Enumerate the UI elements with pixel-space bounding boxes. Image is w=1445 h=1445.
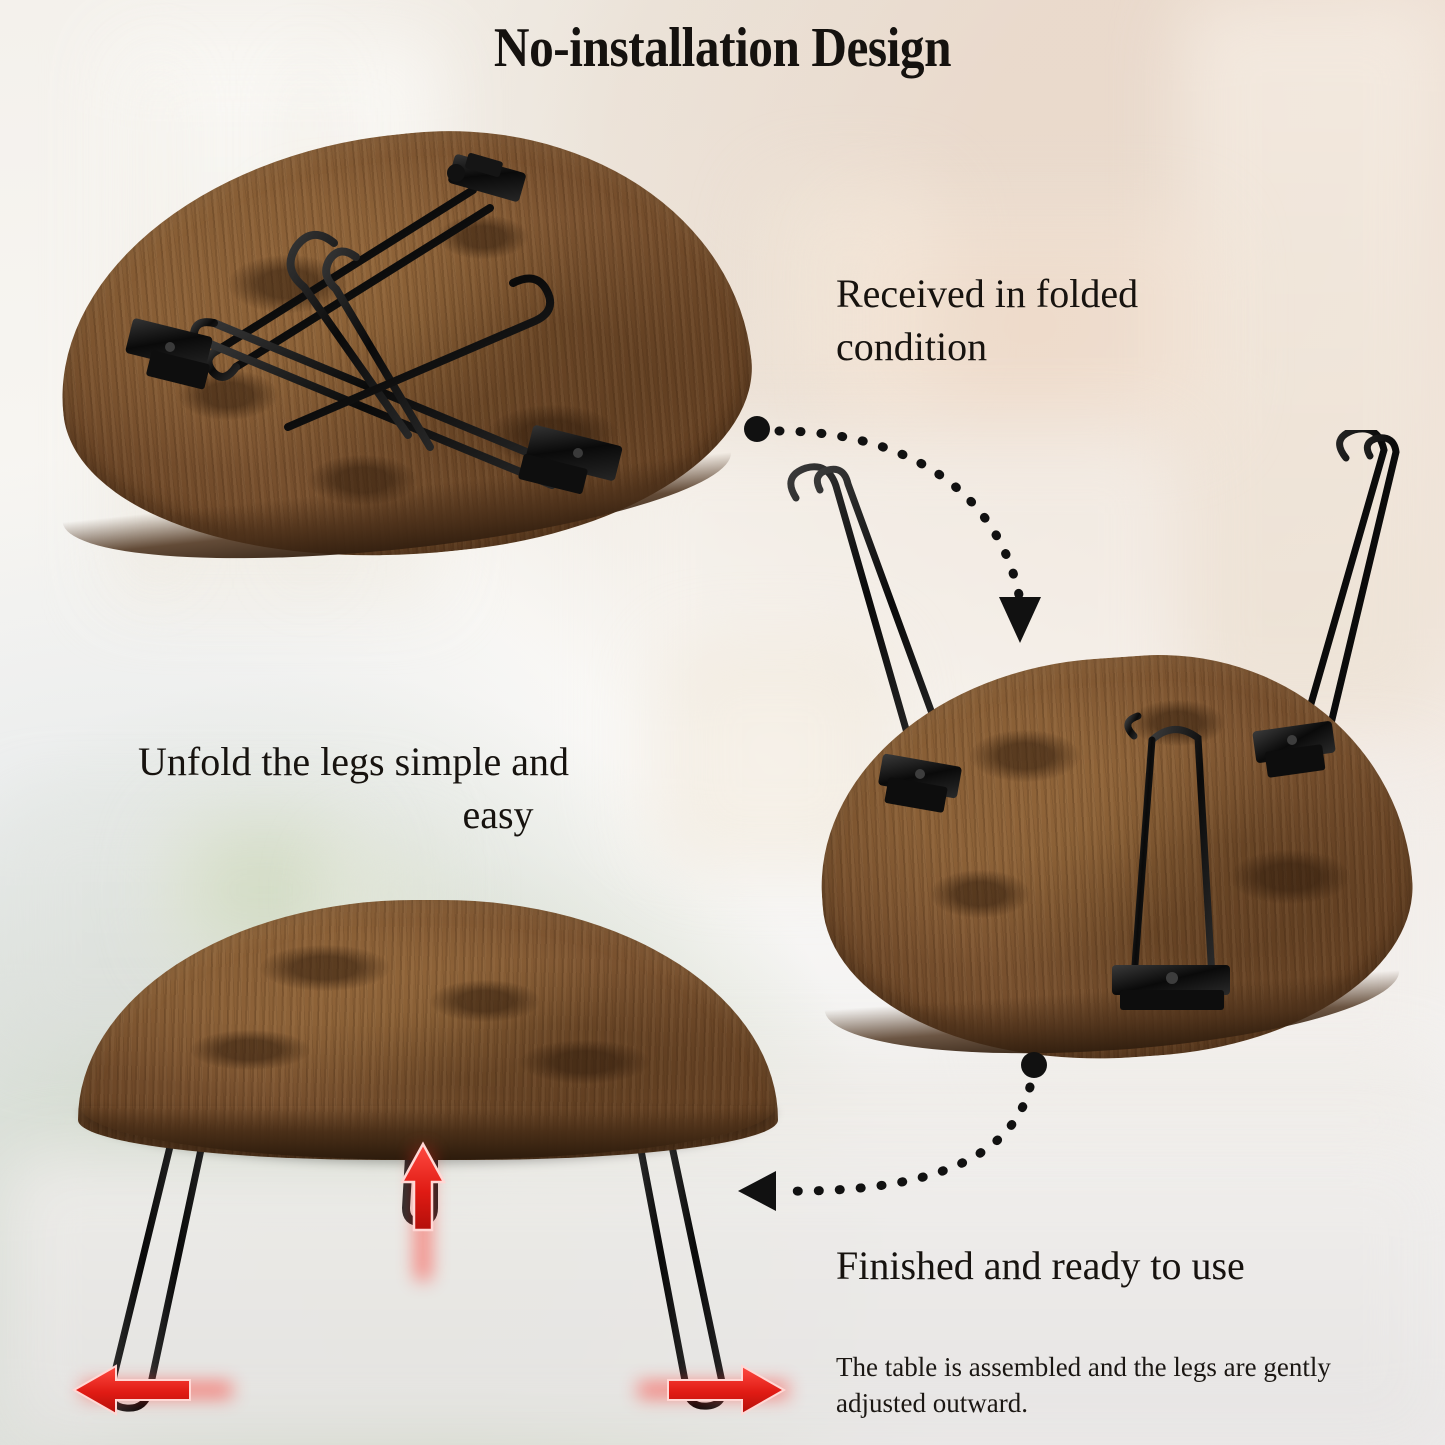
red-arrow-spread-left-foot — [68, 1360, 208, 1420]
caption-unfold-line1: Unfold the legs simple and — [138, 739, 569, 784]
folded-leg-b — [194, 322, 558, 485]
wood-grain-knot — [190, 1030, 310, 1070]
red-arrow-lift-leg — [390, 1138, 460, 1268]
wood-grain-knot — [430, 980, 540, 1022]
leg-mount-bracket — [1252, 721, 1336, 778]
caption-finished-ready: Finished and ready to use — [836, 1240, 1276, 1292]
caption-unfold-line2: easy — [138, 789, 718, 842]
caption-finished-subtext: The table is assembled and the legs are … — [836, 1350, 1396, 1422]
half-unfolded-table-photo — [780, 430, 1410, 1090]
caption-received-folded: Received in folded condition — [836, 268, 1266, 374]
wood-grain-knot — [260, 945, 390, 991]
folded-legs-group — [58, 135, 748, 565]
assembled-table-photo — [50, 890, 810, 1445]
wood-grain-knot — [520, 1040, 650, 1084]
leg-mount-bracket — [1112, 965, 1230, 1010]
caption-unfold-legs: Unfold the legs simple and easy — [138, 736, 718, 842]
leg-mount-bracket — [518, 424, 623, 494]
folded-table-photo — [58, 135, 748, 565]
red-arrow-spread-right-foot — [650, 1360, 790, 1420]
infographic-canvas: No-installation Design — [0, 0, 1445, 1445]
folded-leg-middle — [1128, 716, 1212, 978]
leg-mount-bracket — [878, 753, 962, 813]
page-title: No-installation Design — [87, 16, 1359, 80]
half-unfolded-hardware — [780, 430, 1410, 1090]
